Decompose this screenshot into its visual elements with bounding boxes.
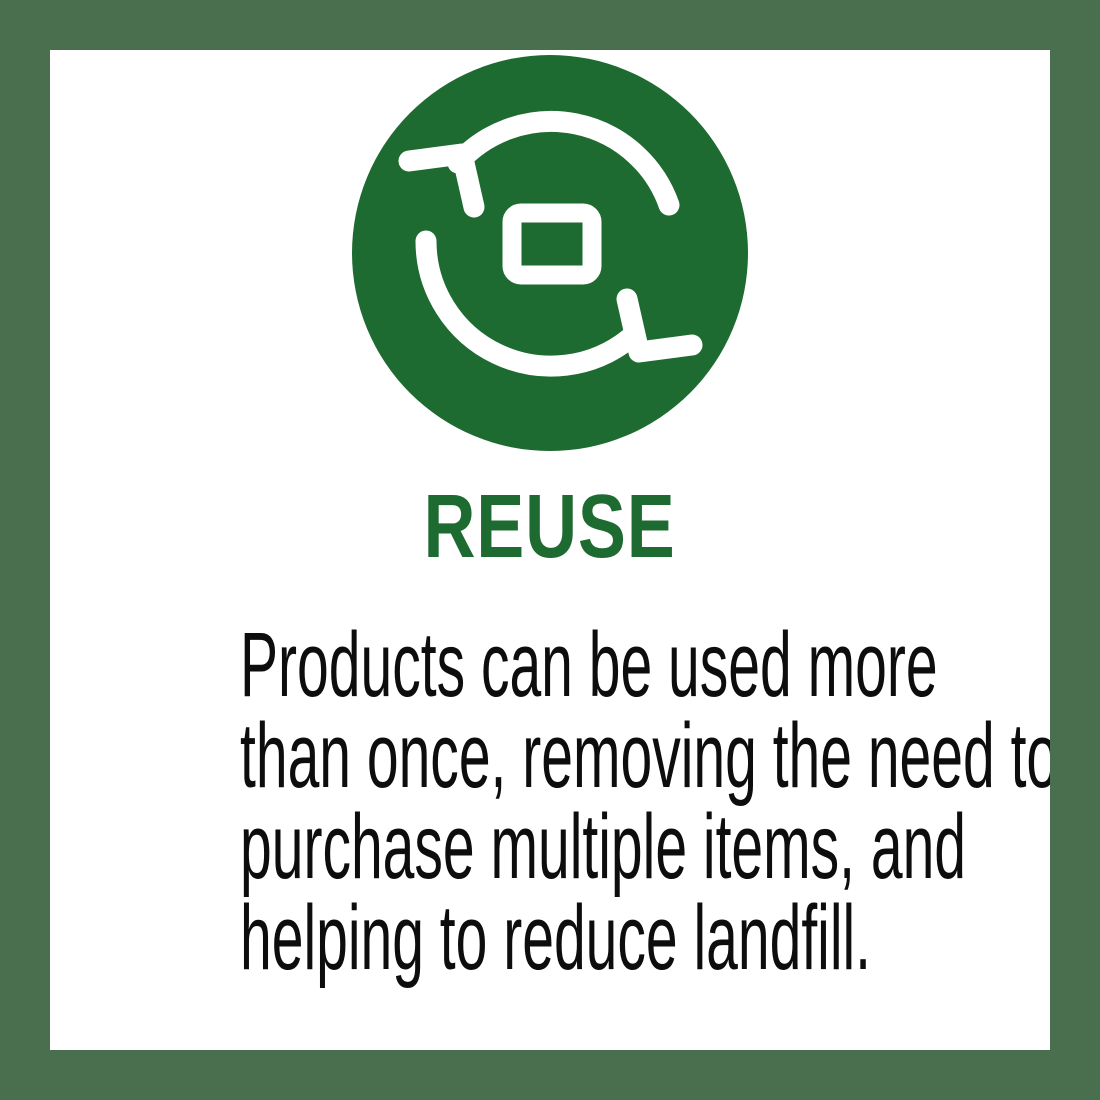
body-paragraph: Products can be used more than once, rem…	[50, 620, 1050, 984]
reuse-info-card: REUSE Products can be used more than onc…	[50, 50, 1050, 1050]
arrowhead-bottom-right	[627, 299, 692, 352]
outer-frame: REUSE Products can be used more than onc…	[0, 0, 1100, 1100]
body-line: purchase multiple items, and	[240, 802, 860, 893]
center-rounded-rectangle	[512, 213, 592, 275]
circular-arrow-upper-arc	[458, 121, 669, 205]
body-line: helping to reduce landfill.	[240, 893, 860, 984]
arrowhead-top-left	[409, 154, 474, 207]
reuse-cycle-icon	[352, 55, 748, 451]
page-title: REUSE	[424, 482, 676, 572]
body-line: than once, removing the need to	[240, 711, 860, 802]
body-line: Products can be used more	[240, 620, 860, 711]
title-container: REUSE	[50, 482, 1050, 572]
